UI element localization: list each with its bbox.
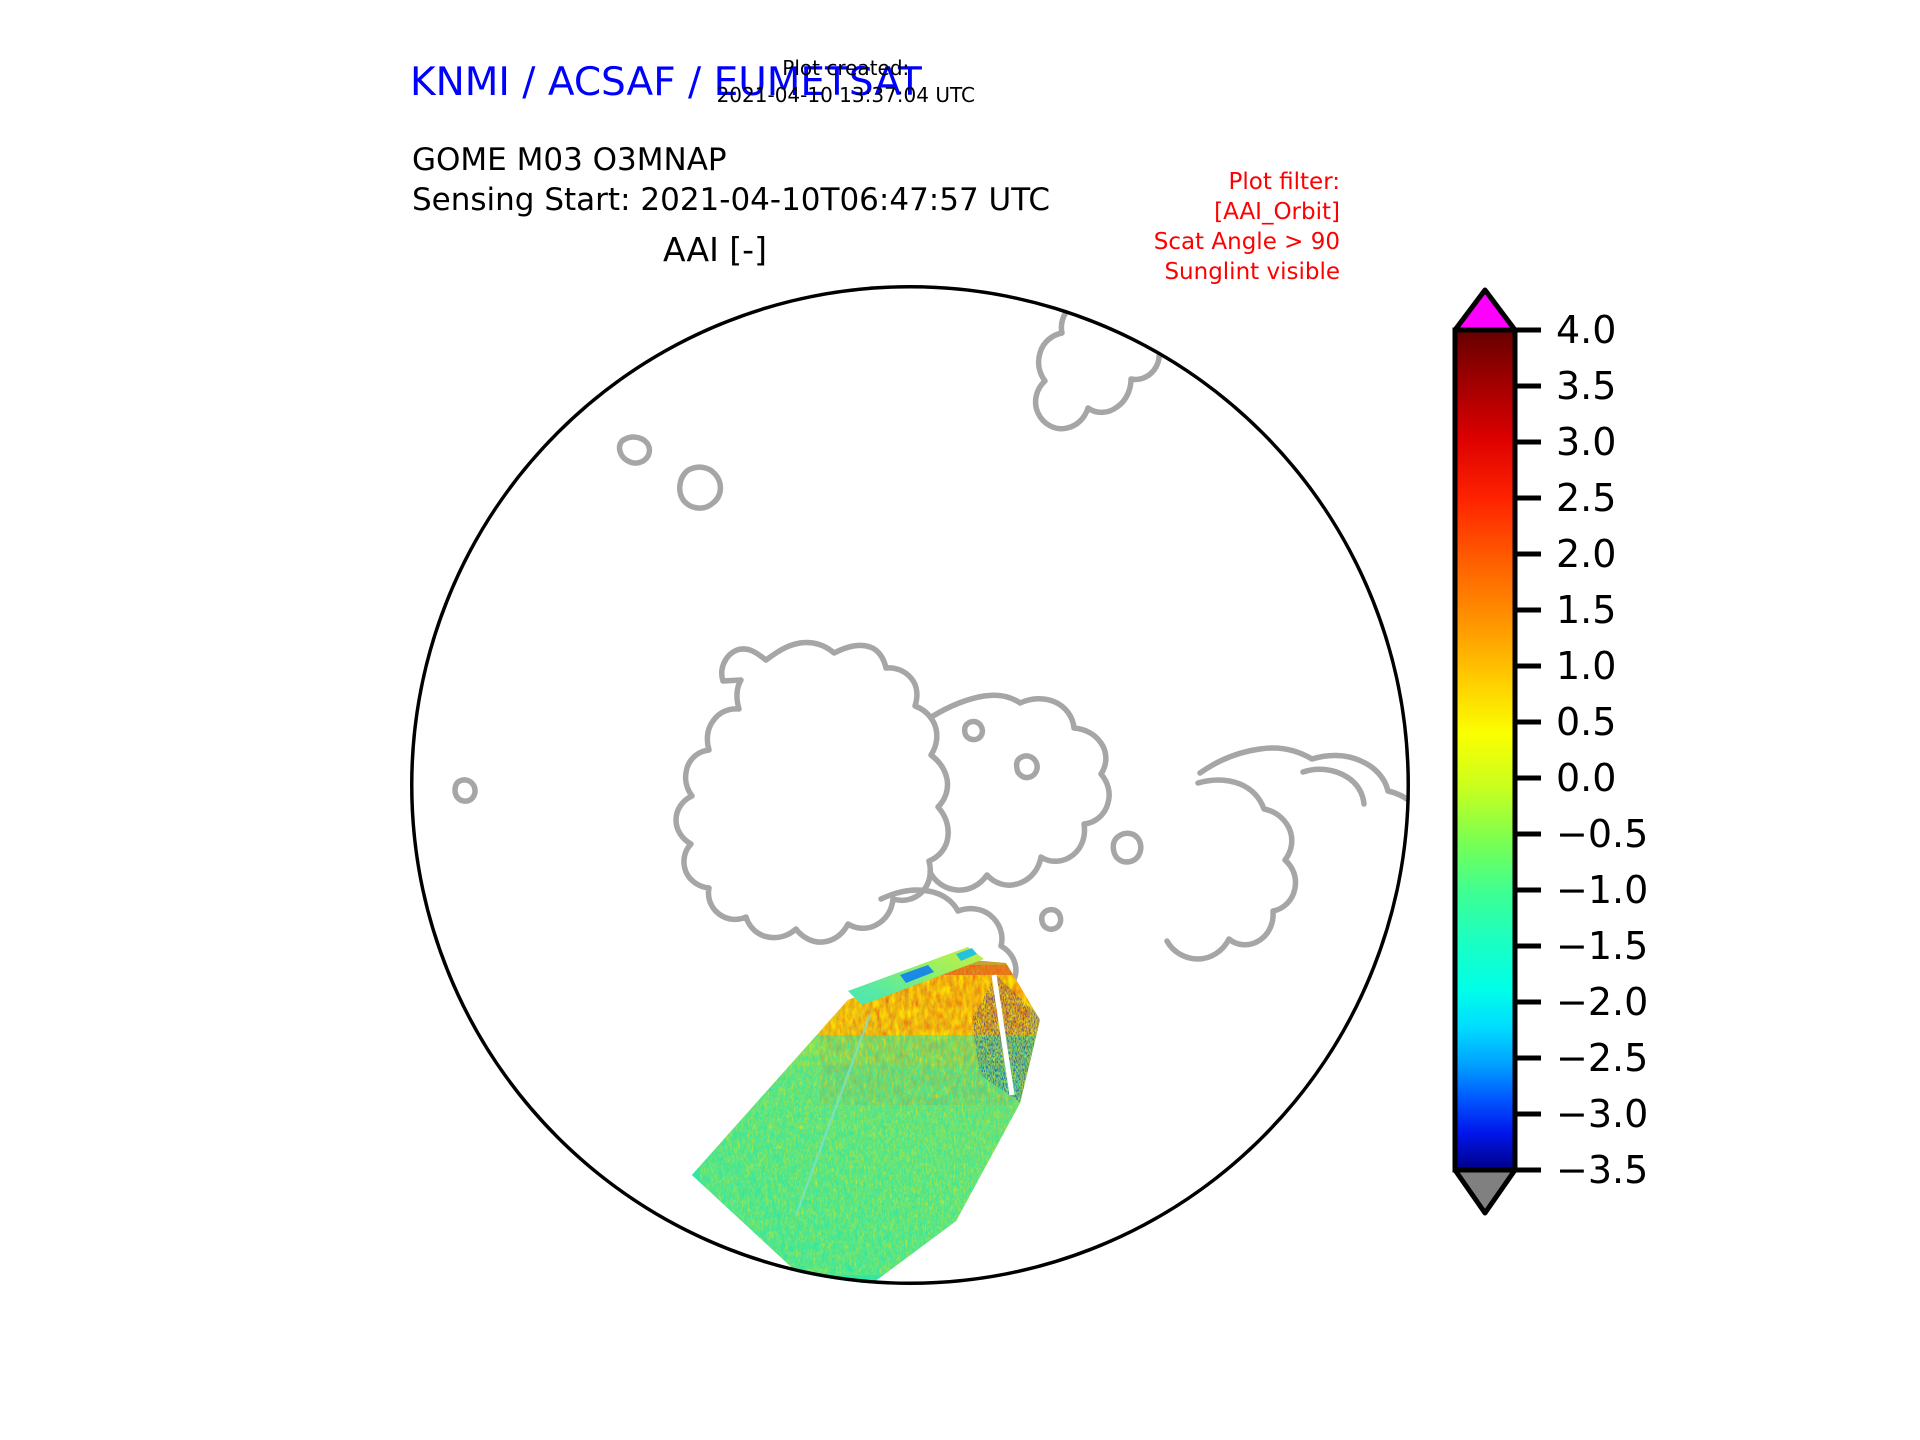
product-info-block: GOME M03 O3MNAP Sensing Start: 2021-04-1…	[412, 140, 1050, 221]
colorbar-tick-label: −0.5	[1556, 812, 1648, 856]
colorbar-tick-label: 1.0	[1556, 644, 1616, 688]
colorbar-tick-label: 0.0	[1556, 756, 1616, 800]
product-name: GOME M03 O3MNAP	[412, 140, 1050, 180]
colorbar-tick-label: 0.5	[1556, 700, 1616, 744]
colorbar-tick-label: 2.0	[1556, 532, 1616, 576]
polar-map	[400, 275, 1420, 1295]
plot-filter-block: Plot filter: [AAI_Orbit] Scat Angle > 90…	[1154, 168, 1340, 288]
plot-filter-variable: [AAI_Orbit]	[1154, 198, 1340, 228]
colorbar-gradient-bar	[1455, 330, 1515, 1170]
sensing-start: Sensing Start: 2021-04-10T06:47:57 UTC	[412, 180, 1050, 220]
colorbar-ticks: 4.03.53.02.52.01.51.00.50.0−0.5−1.0−1.5−…	[1515, 308, 1648, 1192]
coastline-new-zealand-north	[1133, 275, 1155, 314]
colorbar-tick-label: −3.0	[1556, 1092, 1648, 1136]
colorbar-tick-label: −1.0	[1556, 868, 1648, 912]
colorbar-tick-label: −3.5	[1556, 1148, 1648, 1192]
plot-created-label: Plot created:	[717, 55, 975, 82]
colorbar-tick-label: −2.0	[1556, 980, 1648, 1024]
map-panel	[400, 275, 1420, 1295]
colorbar-over-extend	[1455, 290, 1515, 330]
colorbar-tick-label: 4.0	[1556, 308, 1616, 352]
colorbar-tick-label: −2.5	[1556, 1036, 1648, 1080]
plot-created-block: Plot created: 2021-04-10 13:37:04 UTC	[717, 55, 975, 109]
colorbar-tick-label: 1.5	[1556, 588, 1616, 632]
plot-filter-scat-angle: Scat Angle > 90	[1154, 228, 1340, 258]
colorbar-tick-label: −1.5	[1556, 924, 1648, 968]
colorbar-tick-label: 2.5	[1556, 476, 1616, 520]
plot-created-timestamp: 2021-04-10 13:37:04 UTC	[717, 82, 975, 109]
colorbar-tick-label: 3.5	[1556, 364, 1616, 408]
colorbar: 4.03.53.02.52.01.51.00.50.0−0.5−1.0−1.5−…	[1440, 285, 1740, 1305]
plot-filter-label: Plot filter:	[1154, 168, 1340, 198]
colorbar-panel: 4.03.53.02.52.01.51.00.50.0−0.5−1.0−1.5−…	[1440, 285, 1740, 1305]
colorbar-tick-label: 3.0	[1556, 420, 1616, 464]
colorbar-under-extend	[1455, 1170, 1515, 1213]
